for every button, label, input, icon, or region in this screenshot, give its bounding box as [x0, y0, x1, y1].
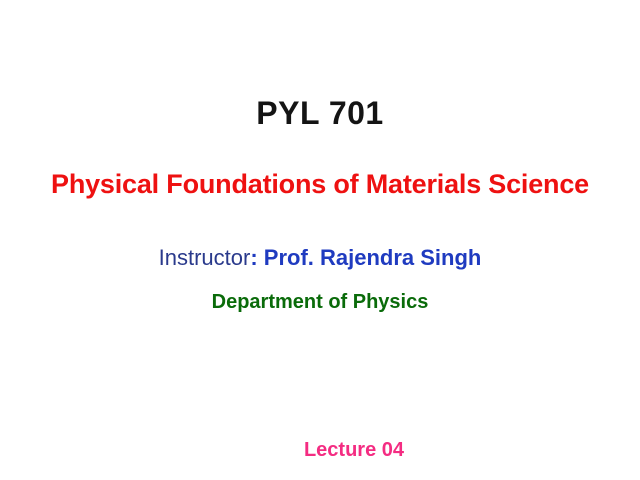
instructor-line: Instructor: Prof. Rajendra Singh	[0, 246, 640, 270]
instructor-label: Instructor	[159, 245, 251, 270]
course-code: PYL 701	[0, 96, 640, 131]
instructor-name: Prof. Rajendra Singh	[264, 245, 482, 270]
instructor-separator: :	[250, 245, 257, 270]
department-name: Department of Physics	[0, 291, 640, 313]
course-title: Physical Foundations of Materials Scienc…	[0, 170, 640, 200]
title-slide: PYL 701 Physical Foundations of Material…	[0, 0, 640, 480]
lecture-number: Lecture 04	[34, 439, 640, 461]
